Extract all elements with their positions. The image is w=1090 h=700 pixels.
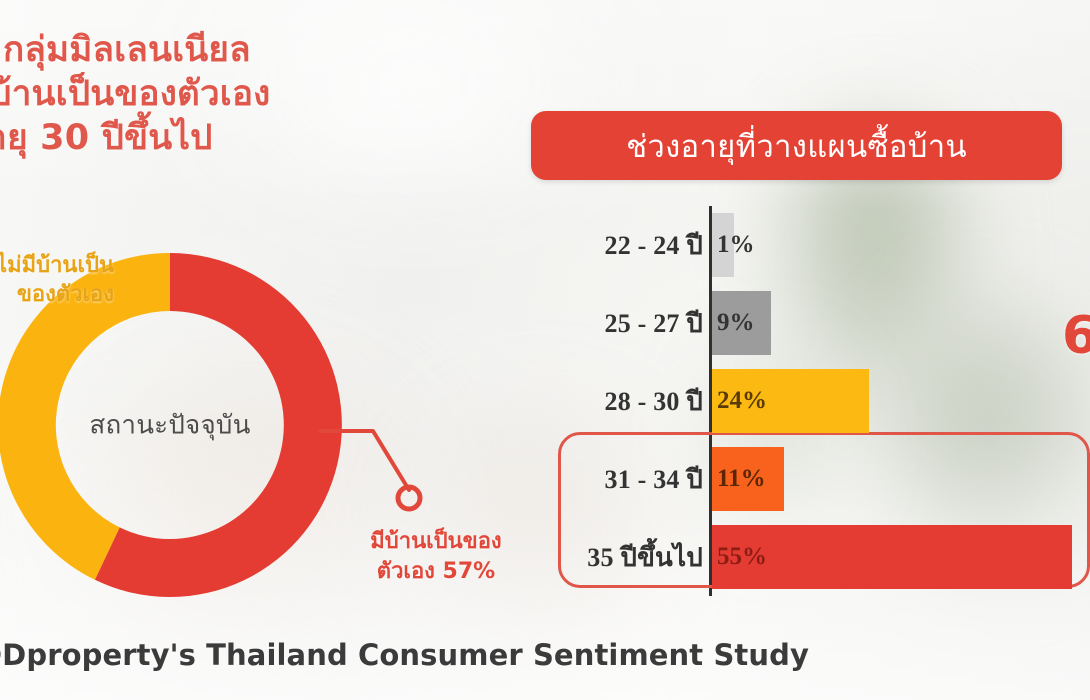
infographic-canvas: 3 กลุ่มมิลเลนเนียล มีบ้านเป็นของตัวเอง อ…: [0, 0, 1090, 700]
donut-callout-leader: [320, 405, 450, 535]
bar-row-label: 35 ปีขึ้นไป: [545, 518, 703, 596]
donut-callout-left: ไม่มีบ้านเป็น ของตัวเอง: [0, 252, 114, 309]
bar-row-label: 25 - 27 ปี: [545, 284, 703, 362]
bar-row-label: 22 - 24 ปี: [545, 206, 703, 284]
footer-source: DDproperty's Thailand Consumer Sentiment…: [0, 638, 809, 672]
bar-chart: 22 - 24 ปี1%25 - 27 ปี9%28 - 30 ปี24%31 …: [545, 206, 1090, 596]
callout-right-line-1: มีบ้านเป็นของ: [326, 527, 546, 557]
bar-row: 35 ปีขึ้นไป55%: [545, 518, 1090, 596]
bar-row: 31 - 34 ปี11%: [545, 440, 1090, 518]
bar-value-label: 11%: [712, 465, 766, 493]
callout-left-line-1: ไม่มีบ้านเป็น: [0, 252, 114, 281]
headline-line-2: มีบ้านเป็นของตัวเอง: [0, 72, 396, 116]
bar-segment: 24%: [712, 369, 869, 433]
callout-right-line-2: ตัวเอง 57%: [326, 557, 546, 587]
bar-row-label: 28 - 30 ปี: [545, 362, 703, 440]
headline-line-3: อายุ 30 ปีขึ้นไป: [0, 116, 396, 160]
donut-callout-right: มีบ้านเป็นของ ตัวเอง 57%: [326, 527, 546, 586]
edge-number: 6: [1062, 306, 1090, 366]
callout-left-line-2: ของตัวเอง: [0, 281, 114, 310]
bar-segment: 11%: [712, 447, 784, 511]
bar-segment: 55%: [712, 525, 1072, 589]
headline-line-1: 3 กลุ่มมิลเลนเนียล: [0, 28, 396, 72]
bar-value-label: 55%: [712, 543, 767, 571]
bar-segment: 1%: [712, 213, 734, 277]
chart-title-banner: ช่วงอายุที่วางแผนซื้อบ้าน: [531, 111, 1062, 180]
bar-row-label: 31 - 34 ปี: [545, 440, 703, 518]
leader-line: [320, 431, 409, 490]
bar-value-label: 9%: [712, 309, 755, 337]
donut-center-label: สถานะปัจจุบัน: [0, 404, 342, 445]
bar-row: 28 - 30 ปี24%: [545, 362, 1090, 440]
chart-title-text: ช่วงอายุที่วางแผนซื้อบ้าน: [626, 121, 967, 171]
bar-value-label: 24%: [712, 387, 767, 415]
bar-value-label: 1%: [712, 231, 755, 259]
headline: 3 กลุ่มมิลเลนเนียล มีบ้านเป็นของตัวเอง อ…: [0, 28, 396, 160]
bar-row: 25 - 27 ปี9%: [545, 284, 1090, 362]
bar-row: 22 - 24 ปี1%: [545, 206, 1090, 284]
bar-segment: 9%: [712, 291, 771, 355]
